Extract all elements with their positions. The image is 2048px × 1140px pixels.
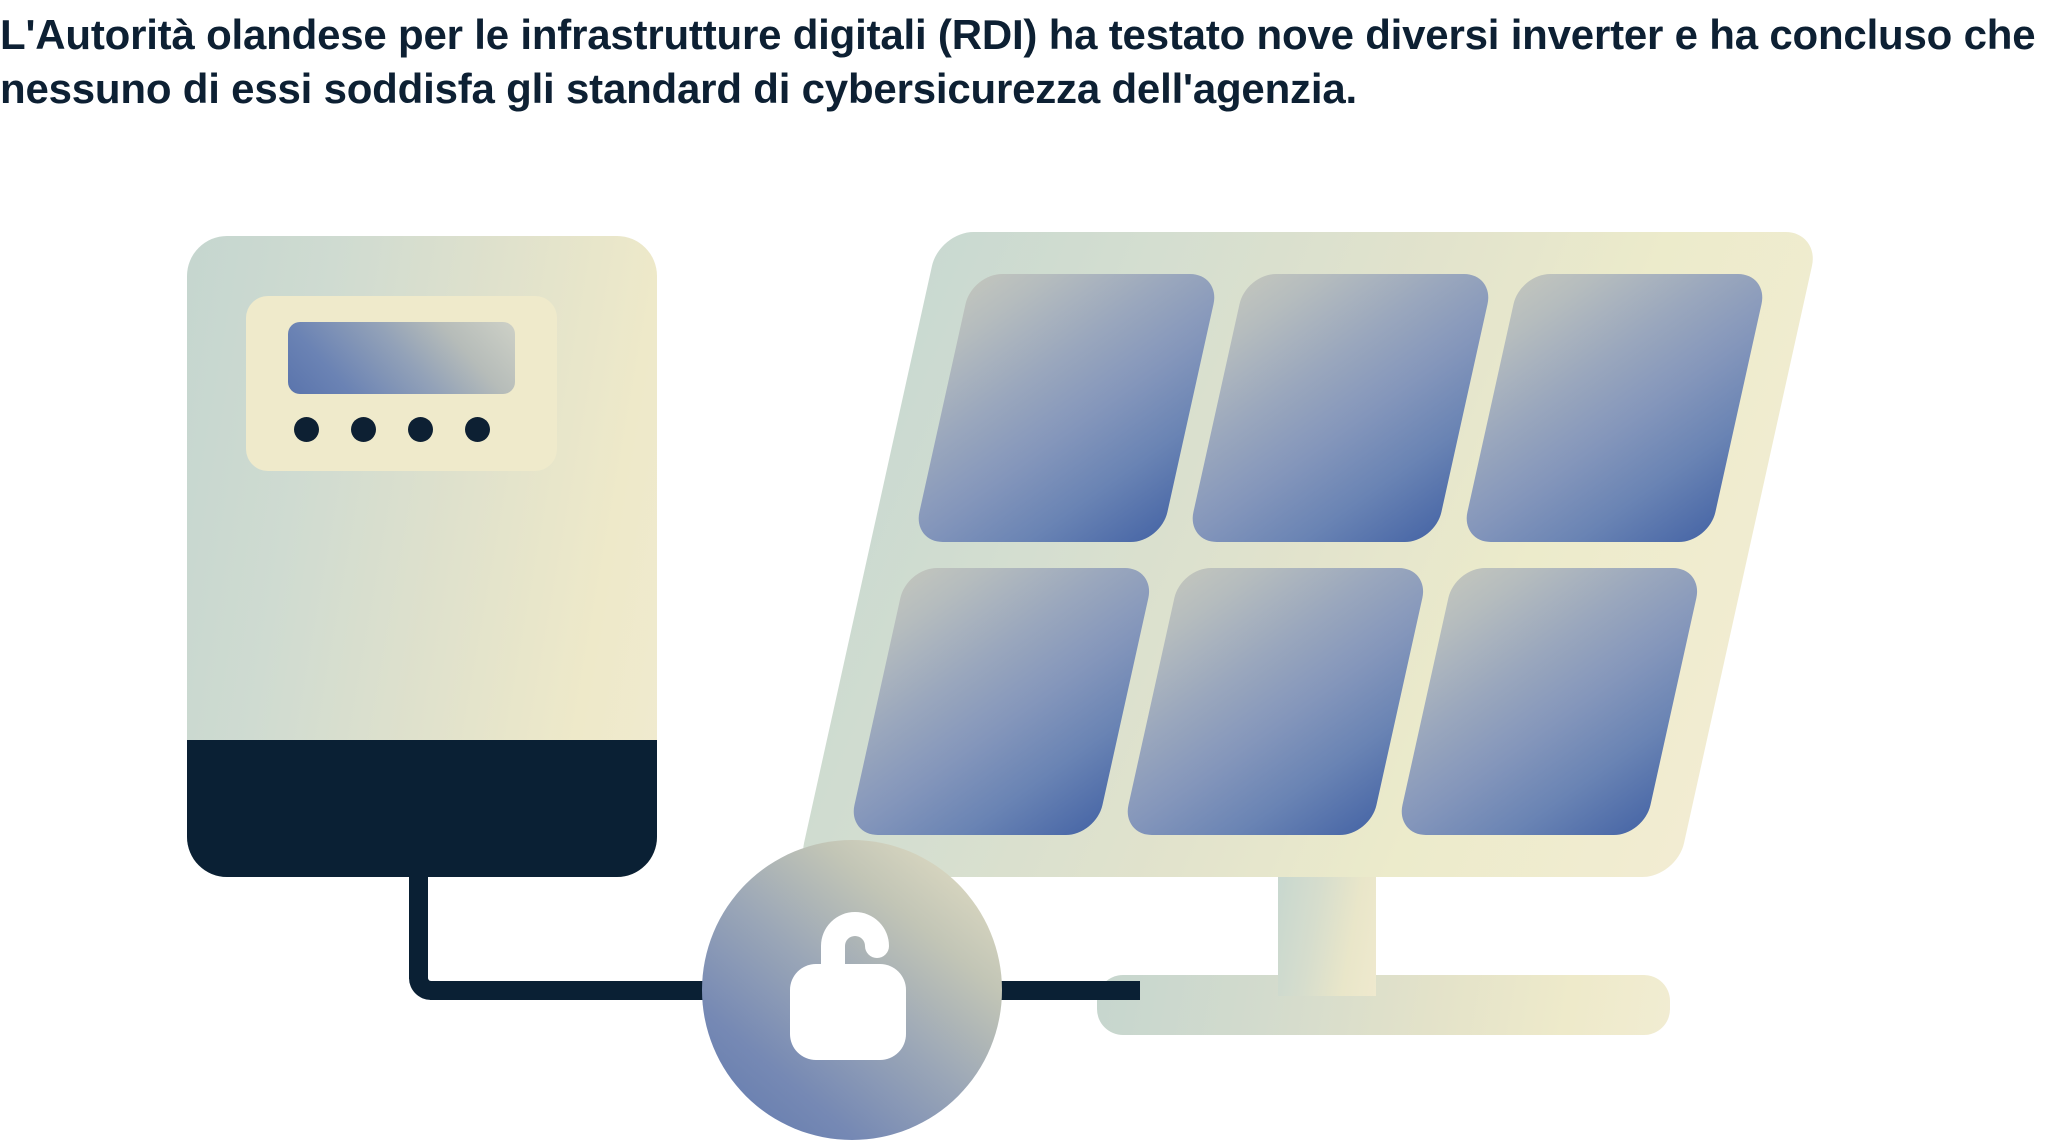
headline-line-1: L'Autorità olandese per le infrastruttur… [0, 11, 1952, 58]
inverter-base-panel [187, 740, 657, 877]
inverter-led-indicator [408, 417, 433, 442]
power-cable-horizontal-left [430, 981, 730, 1000]
solar-cell [1122, 568, 1429, 836]
inverter-display-screen [288, 322, 515, 394]
solar-inverter [187, 236, 657, 877]
illustration [0, 150, 2048, 1109]
page-root: L'Autorità olandese per le infrastruttur… [0, 0, 2048, 1109]
solar-cell [1396, 568, 1703, 836]
headline-text: L'Autorità olandese per le infrastruttur… [0, 8, 2044, 116]
inverter-led-indicator [465, 417, 490, 442]
solar-panel-cell-grid [797, 232, 1820, 877]
solar-cell [1461, 274, 1768, 542]
inverter-led-row [294, 416, 490, 442]
solar-cell [848, 568, 1155, 836]
open-padlock-badge [702, 840, 1002, 1140]
solar-cell [1187, 274, 1494, 542]
inverter-led-indicator [351, 417, 376, 442]
unlock-icon [780, 902, 930, 1070]
inverter-led-indicator [294, 417, 319, 442]
solar-cell [913, 274, 1220, 542]
